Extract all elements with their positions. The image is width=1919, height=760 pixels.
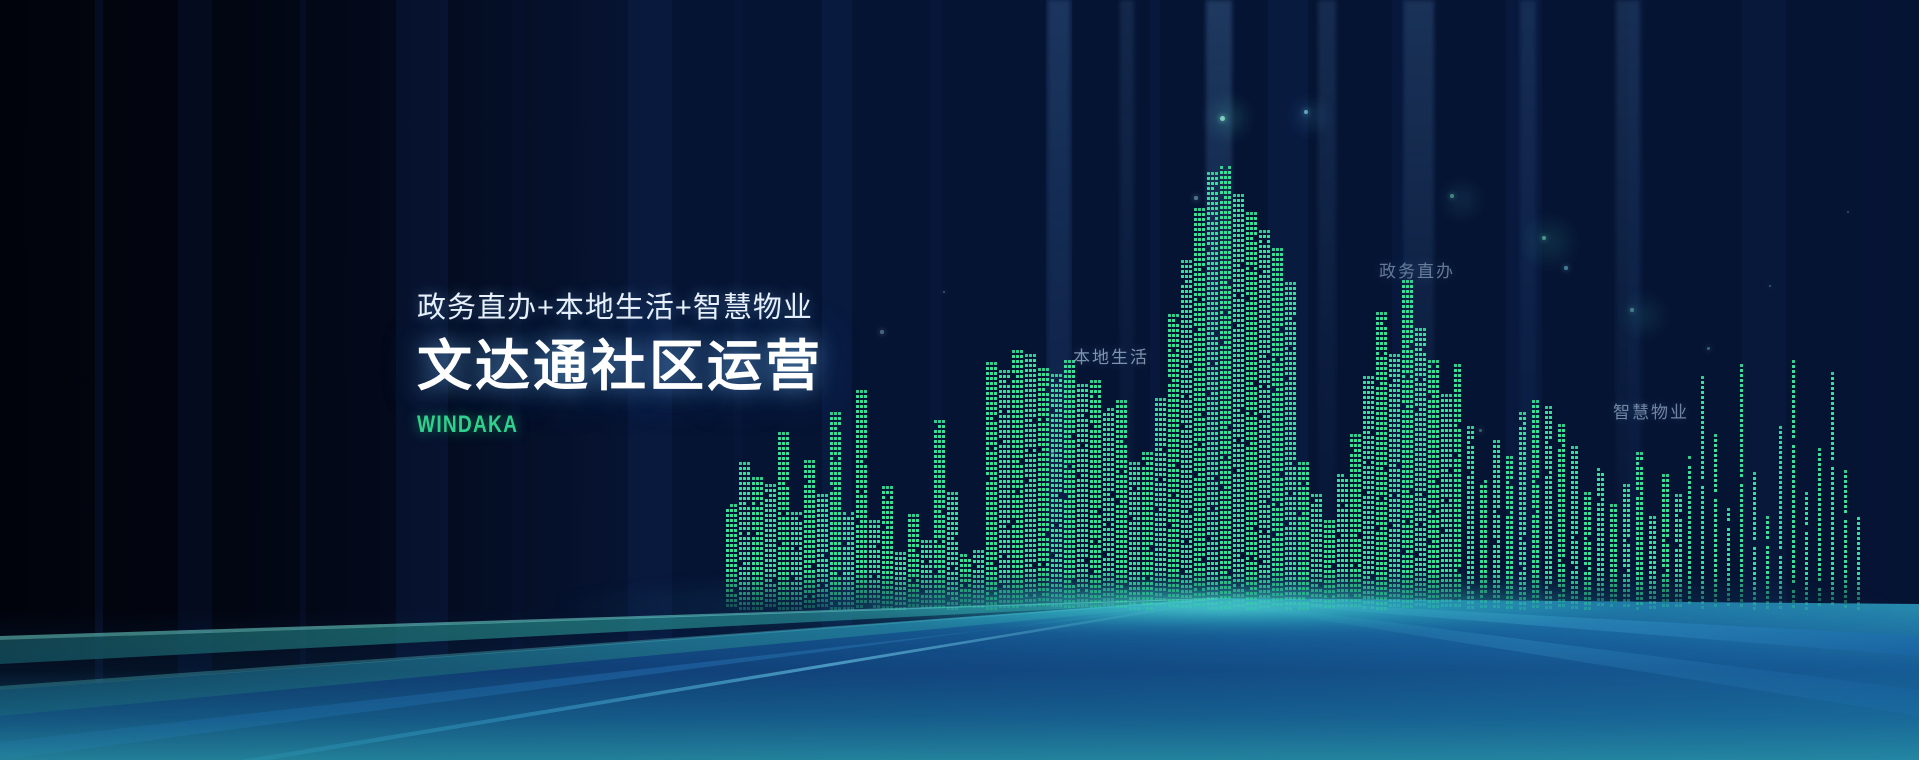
bar [1831,372,1834,612]
bar [1766,516,1769,612]
bar [1454,364,1461,612]
bar [1363,376,1374,612]
hero-text-block: 政务直办+本地生活+智慧物业 文达通社区运营 WINDAKA [417,290,1057,439]
bar [1415,328,1426,612]
particle-glow-4 [1618,290,1670,342]
bar [1675,494,1682,612]
bar [908,514,919,612]
particle-11 [1479,429,1482,432]
bar [1103,408,1114,612]
bar [1194,208,1205,612]
bar [1402,280,1413,612]
particle-0 [1220,116,1225,121]
bar [1740,364,1743,612]
bar [895,552,906,612]
bar [1389,354,1400,612]
bar [1350,434,1361,612]
bar [1805,492,1808,612]
bar [1597,468,1604,612]
bar [947,492,958,612]
floating-label-1: 本地生活 [1073,343,1149,368]
bar [1519,412,1526,612]
bar [1701,376,1704,612]
particle-4 [1194,196,1197,199]
bar [1662,474,1669,612]
bar [1623,484,1630,612]
bar [1480,480,1487,612]
bar [1688,456,1691,612]
bar [1337,474,1348,612]
bar [1428,360,1439,612]
floating-label-0: 政务直办 [1379,257,1455,282]
bar [960,554,971,612]
bar [1714,434,1717,612]
bar [1753,472,1756,612]
bar [1311,494,1322,612]
particle-1 [1304,110,1308,114]
bar [1077,384,1088,612]
particle-glow-3 [1438,176,1486,224]
bar [739,462,750,612]
particle-glow-2 [1520,212,1580,272]
particle-2 [1542,236,1546,240]
floating-label-2: 智慧物业 [1613,398,1689,423]
particle-glow-1 [1288,94,1332,138]
bar [1298,462,1309,612]
bar [1181,260,1192,612]
bar [869,520,880,612]
bar [1441,394,1452,612]
hero-title: 文达通社区运营 [417,334,1057,399]
bar [1467,426,1474,612]
bar [1168,314,1179,612]
bar [882,486,893,612]
bar [1493,440,1500,612]
bar [1246,212,1257,612]
bar [817,494,828,612]
hero-banner: 政务直办+本地生活+智慧物业 文达通社区运营 WINDAKA 政务直办本地生活智… [0,0,1919,760]
bar [1207,172,1218,612]
bar [1636,452,1643,612]
bar [804,460,815,612]
particle-10 [1051,451,1054,454]
bar [1779,426,1782,612]
bar [1142,452,1153,612]
particle-5 [1450,194,1454,198]
particle-8 [1630,308,1634,312]
bar [791,512,802,612]
bar [1090,380,1101,612]
bar [1649,516,1656,612]
bar [1272,248,1283,612]
bar [765,484,776,612]
bar [1259,230,1270,612]
bar [1155,398,1166,612]
bar [1116,400,1127,612]
bar [973,550,984,612]
bar [752,477,763,612]
bar [1233,194,1244,612]
bar [830,412,841,612]
bar [1064,360,1075,612]
bar [1857,512,1860,612]
particle-3 [1564,266,1567,269]
bar [1571,446,1578,612]
bar [921,540,932,612]
bar [1558,424,1565,612]
bar [1220,166,1231,612]
hero-subtitle: 政务直办+本地生活+智慧物业 [417,290,1057,326]
bar [1506,456,1513,612]
bar [1610,504,1617,612]
bar [778,432,789,612]
bar [1532,400,1539,612]
bar [1376,312,1387,612]
bar [934,420,945,612]
bar [1584,492,1591,612]
bar [1129,462,1140,612]
bar [843,512,854,612]
bar [1844,470,1847,612]
bar [1324,520,1335,612]
bar [1545,406,1552,612]
bar [1727,508,1730,612]
particle-glow-0 [1202,92,1254,144]
bar [1792,360,1795,612]
particle-9 [1707,347,1710,350]
bar [1818,448,1821,612]
bar [726,504,737,612]
bar [1285,282,1296,612]
brand-wordmark: WINDAKA [417,411,929,439]
